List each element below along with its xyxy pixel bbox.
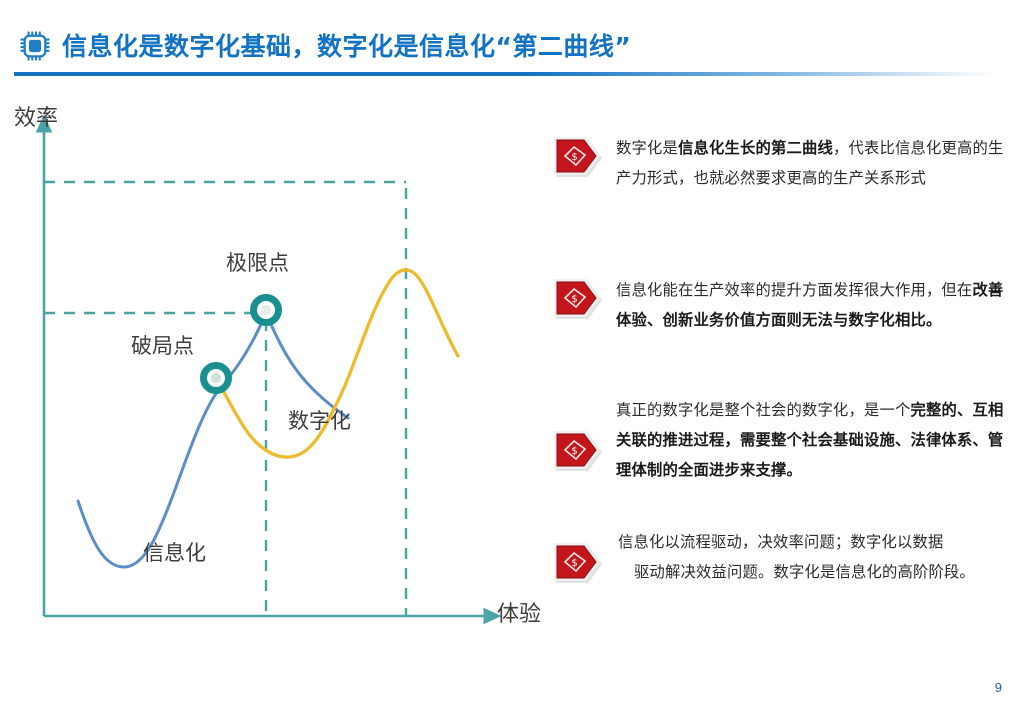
chart-x-axis-label: 体验 — [497, 604, 541, 626]
chart-marker-break-point — [203, 365, 229, 391]
bullet-text: 信息化能在生产效率的提升方面发挥很大作用，但在改善体验、创新业务价值方面则无法与… — [616, 276, 1004, 336]
bullet-run-bold: 信息化生长的第二曲线 — [678, 139, 833, 157]
curve-information — [78, 313, 348, 567]
second-curve-chart: 效率 体验 极限点 破局点 数字化 信息化 — [0, 88, 560, 658]
bullet-list: $ 数字化是信息化生长的第二曲线，代表比信息化更高的生产力形式，也就必然要求更高… — [552, 128, 1012, 638]
bullet-text: 信息化以流程驱动，决效率问题；数字化以数据 驱动解决效益问题。数字化是信息化的高… — [616, 528, 975, 588]
bullet-run: 信息化能在生产效率的提升方面发挥很大作用，但在 — [616, 281, 972, 299]
slide-root: 信息化是数字化基础，数字化是信息化“第二曲线” — [0, 0, 1020, 705]
bullet-run: 数字化是 — [616, 139, 678, 157]
slide-header: 信息化是数字化基础，数字化是信息化“第二曲线” — [0, 18, 1020, 74]
svg-text:$: $ — [571, 294, 577, 305]
bullet-item: $ 数字化是信息化生长的第二曲线，代表比信息化更高的生产力形式，也就必然要求更高… — [552, 134, 1004, 194]
red-pentagon-bullet-icon: $ — [552, 276, 606, 324]
bullet-text: 数字化是信息化生长的第二曲线，代表比信息化更高的生产力形式，也就必然要求更高的生… — [616, 134, 1004, 194]
svg-text:$: $ — [571, 152, 577, 163]
page-title: 信息化是数字化基础，数字化是信息化“第二曲线” — [62, 34, 631, 59]
red-pentagon-bullet-icon: $ — [552, 134, 606, 182]
bullet-item: $ 信息化以流程驱动，决效率问题；数字化以数据 驱动解决效益问题。数字化是信息化… — [552, 528, 1004, 588]
chip-icon — [20, 31, 50, 61]
svg-text:$: $ — [571, 446, 577, 457]
bullet-line: 信息化以流程驱动，决效率问题；数字化以数据 — [618, 533, 943, 551]
bullet-line: 驱动解决效益问题。数字化是信息化的高阶阶段。 — [618, 558, 975, 588]
chart-y-axis-label: 效率 — [14, 108, 58, 130]
chart-marker-limit-point — [253, 297, 279, 323]
svg-text:$: $ — [571, 558, 577, 569]
bullet-item: $ 信息化能在生产效率的提升方面发挥很大作用，但在改善体验、创新业务价值方面则无… — [552, 276, 1004, 336]
chart-series-label-information: 信息化 — [143, 543, 206, 564]
chart-series-label-digitalization: 数字化 — [288, 411, 351, 432]
bullet-text: 真正的数字化是整个社会的数字化，是一个完整的、互相关联的推进过程，需要整个社会基… — [616, 396, 1004, 485]
page-number: 9 — [995, 680, 1002, 695]
red-pentagon-bullet-icon: $ — [552, 428, 606, 476]
red-pentagon-bullet-icon: $ — [552, 540, 606, 588]
chart-canvas — [0, 88, 560, 658]
bullet-item: $ 真正的数字化是整个社会的数字化，是一个完整的、互相关联的推进过程，需要整个社… — [552, 396, 1004, 485]
chart-annotation-break-point: 破局点 — [131, 336, 194, 357]
header-divider — [14, 72, 994, 76]
chart-annotation-limit-point: 极限点 — [226, 253, 289, 274]
bullet-run: 真正的数字化是整个社会的数字化，是一个 — [616, 401, 910, 419]
